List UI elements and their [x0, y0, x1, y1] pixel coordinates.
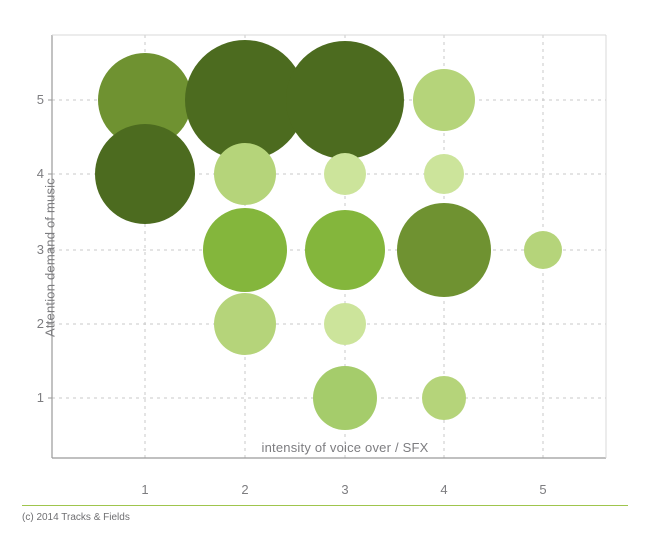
bubble-x2-y4[interactable]: [214, 143, 276, 205]
footer-divider: [22, 505, 628, 506]
bubble-x2-y3[interactable]: [203, 208, 287, 292]
x-tick-label-4: 4: [429, 482, 459, 497]
bubble-x3-y3[interactable]: [305, 210, 385, 290]
y-tick-label-1: 1: [26, 390, 44, 405]
bubble-chart-page: intensity of voice over / SFX Attention …: [0, 0, 650, 540]
bubble-x3-y1[interactable]: [313, 366, 377, 430]
footer: (c) 2014 Tracks & Fields: [22, 505, 628, 535]
chart-container: intensity of voice over / SFX Attention …: [0, 0, 650, 500]
x-axis-title: intensity of voice over / SFX: [0, 440, 650, 455]
x-tick-label-3: 3: [330, 482, 360, 497]
x-tick-label-5: 5: [528, 482, 558, 497]
plot-canvas: [0, 0, 650, 500]
x-tick-label-2: 2: [230, 482, 260, 497]
bubble-x3-y5[interactable]: [286, 41, 404, 159]
bubble-x4-y3[interactable]: [397, 203, 491, 297]
bubble-x3-y4[interactable]: [324, 153, 366, 195]
bubble-x4-y4[interactable]: [424, 154, 464, 194]
copyright-text: (c) 2014 Tracks & Fields: [22, 512, 130, 523]
bubble-x3-y2[interactable]: [324, 303, 366, 345]
y-tick-label-3: 3: [26, 242, 44, 257]
y-tick-label-2: 2: [26, 316, 44, 331]
x-tick-label-1: 1: [130, 482, 160, 497]
bubble-x4-y1[interactable]: [422, 376, 466, 420]
bubble-x4-y5[interactable]: [413, 69, 475, 131]
y-tick-label-5: 5: [26, 92, 44, 107]
y-axis-title: Attention demand of music: [43, 148, 58, 368]
bubble-x2-y2[interactable]: [214, 293, 276, 355]
y-tick-label-4: 4: [26, 166, 44, 181]
bubble-x1-y4[interactable]: [95, 124, 195, 224]
bubble-series: [95, 40, 562, 430]
bubble-x5-y3[interactable]: [524, 231, 562, 269]
